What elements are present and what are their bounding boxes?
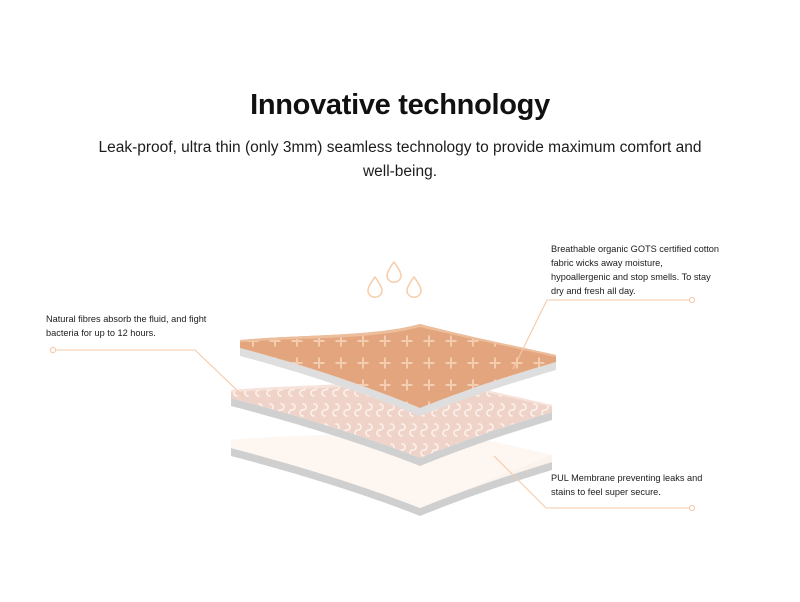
leader-line-left [50,347,243,396]
header: Innovative technology Leak-proof, ultra … [0,88,800,184]
water-droplet-icon [368,277,382,297]
page-title: Innovative technology [0,88,800,123]
callout-left-text: Natural fibres absorb the fluid, and fig… [46,313,224,341]
water-droplet-icon [387,262,401,282]
leader-dot-left [50,347,55,352]
callout-top-right-text: Breathable organic GOTS certified cotton… [551,243,721,299]
infographic-canvas: Innovative technology Leak-proof, ultra … [0,0,800,602]
callout-bottom-right-text: PUL Membrane preventing leaks and stains… [551,472,723,500]
page-subtitle: Leak-proof, ultra thin (only 3mm) seamle… [95,136,705,184]
water-droplets-group [368,262,421,297]
water-droplet-icon [407,277,421,297]
layer-pul-membrane [231,424,552,516]
layer-absorbent-core [231,374,552,466]
leader-dot-bottom-right [689,505,694,510]
layer-organic-cotton [240,324,556,416]
leader-line-top-right [513,297,695,369]
